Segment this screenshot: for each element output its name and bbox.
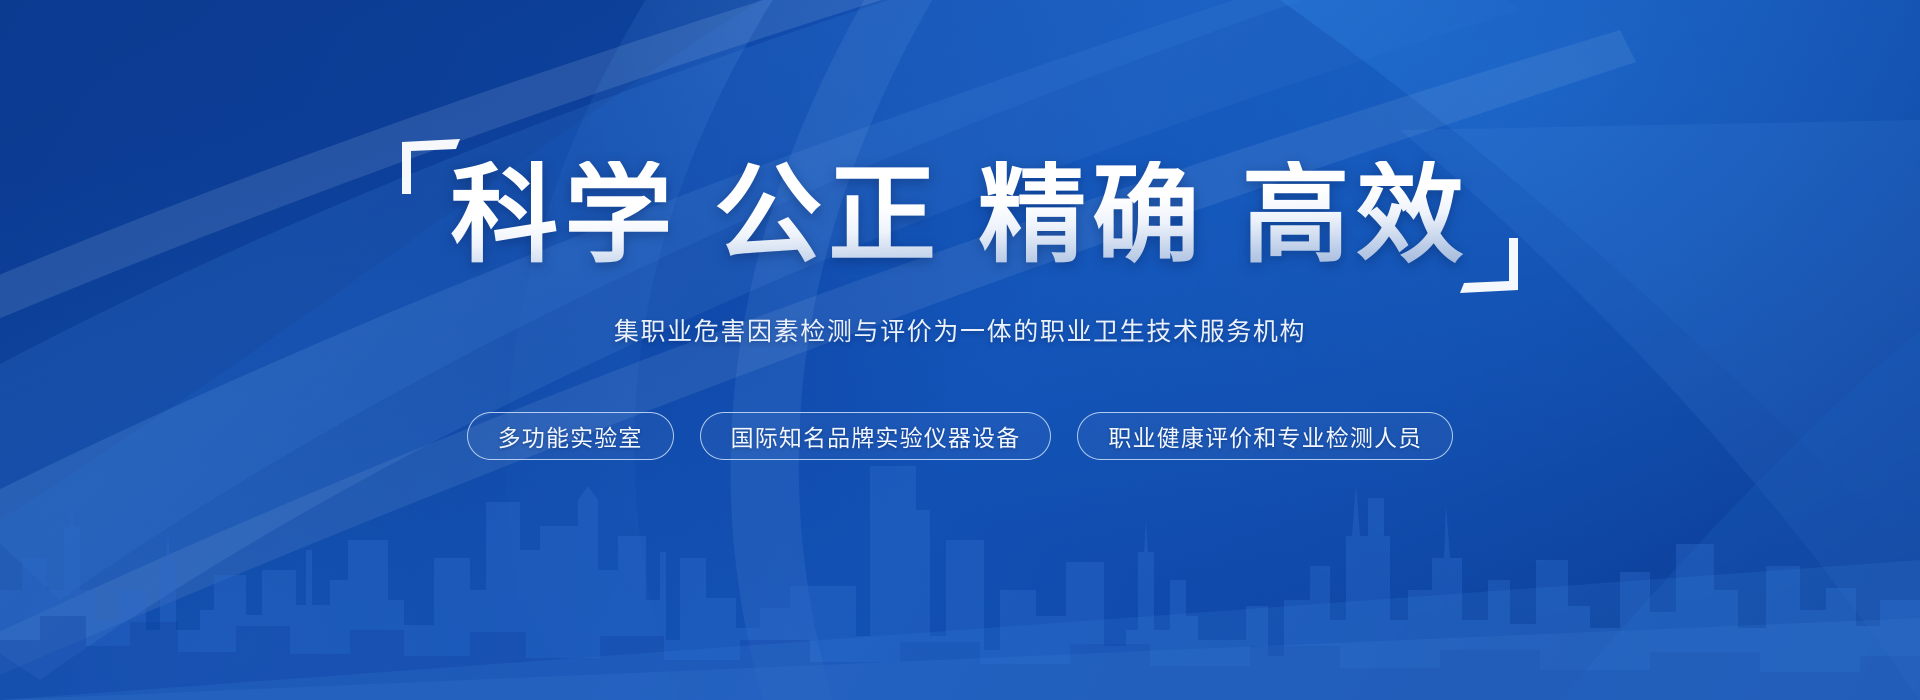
banner-content: 科学 公正 精确 高效 集职业危害因素检测与评价为一体的职业卫生技术服务机构 多… — [0, 0, 1920, 700]
headline-group: 科学 公正 精确 高效 — [440, 150, 1480, 280]
page-title: 科学 公正 精确 高效 — [450, 161, 1469, 269]
feature-pill-lab[interactable]: 多功能实验室 — [467, 412, 674, 460]
feature-pill-list: 多功能实验室 国际知名品牌实验仪器设备 职业健康评价和专业检测人员 — [467, 412, 1454, 460]
hero-banner: 科学 公正 精确 高效 集职业危害因素检测与评价为一体的职业卫生技术服务机构 多… — [0, 0, 1920, 700]
close-bracket-icon — [1458, 236, 1522, 294]
banner-subtitle: 集职业危害因素检测与评价为一体的职业卫生技术服务机构 — [614, 312, 1306, 348]
feature-pill-staff[interactable]: 职业健康评价和专业检测人员 — [1077, 412, 1453, 460]
feature-pill-equipment[interactable]: 国际知名品牌实验仪器设备 — [700, 412, 1052, 460]
